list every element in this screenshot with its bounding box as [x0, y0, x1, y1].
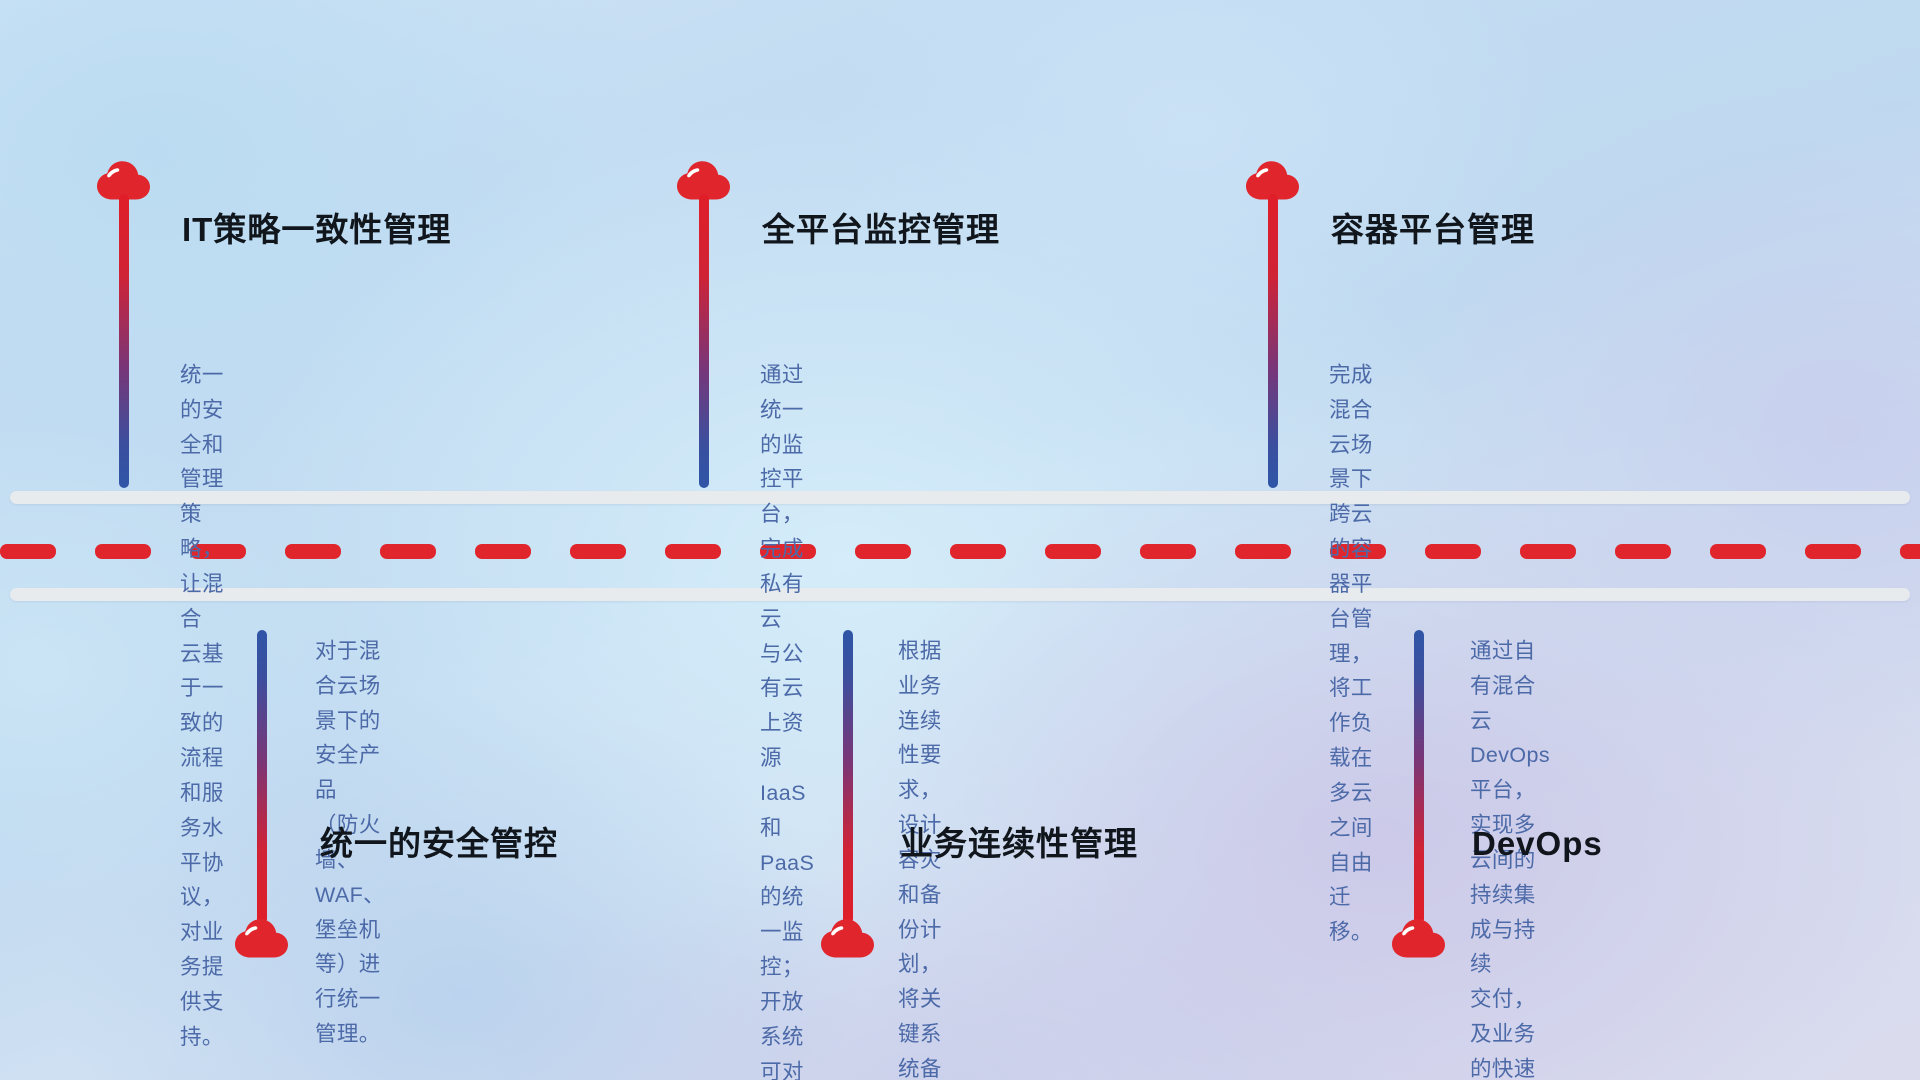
item-body: 统一的安全和管理策略，让混合 云基于一致的流程和服务水平协 议，对业务提供支持。: [180, 358, 224, 1055]
pin-stem: [257, 630, 267, 924]
item-title: 业务连续性管理: [900, 827, 1138, 860]
road-dash: [475, 544, 531, 559]
road-dash: [570, 544, 626, 559]
road-dash: [380, 544, 436, 559]
road-dash: [1235, 544, 1291, 559]
pin-stem: [699, 194, 709, 488]
item-title: 统一的安全管控: [320, 827, 558, 860]
road-dash: [1900, 544, 1920, 559]
item-title: DevOps: [1472, 827, 1603, 860]
item-body: 通过统一的监控平台，完成私有云 与公有云上资源IaaS和PaaS的统 一监控；开…: [760, 358, 814, 1080]
item-title: 容器平台管理: [1331, 213, 1535, 246]
road-dashed-center-line: [0, 543, 1920, 559]
road-dash: [1615, 544, 1671, 559]
item-title: IT策略一致性管理: [182, 213, 451, 246]
cloud-icon: [820, 918, 876, 958]
road-dash: [665, 544, 721, 559]
road-dash: [1045, 544, 1101, 559]
road-rail-top: [10, 491, 1910, 504]
road-dash: [0, 544, 56, 559]
road-dash: [855, 544, 911, 559]
pin-stem: [1268, 194, 1278, 488]
road-rail-bottom: [10, 588, 1910, 601]
road-dash: [1710, 544, 1766, 559]
road-dash: [1805, 544, 1861, 559]
road-dash: [285, 544, 341, 559]
pin-stem: [119, 194, 129, 488]
road-dash: [1520, 544, 1576, 559]
road-dash: [95, 544, 151, 559]
road-dash: [1425, 544, 1481, 559]
road-dash: [1140, 544, 1196, 559]
cloud-icon: [234, 918, 290, 958]
pin-stem: [843, 630, 853, 924]
pin-stem: [1414, 630, 1424, 924]
item-title: 全平台监控管理: [762, 213, 1000, 246]
item-body: 完成混合云场景下跨云的容器平 台管理，将工作负载在多云之间 自由迁移。: [1329, 358, 1373, 950]
road-dash: [950, 544, 1006, 559]
cloud-icon: [1391, 918, 1447, 958]
